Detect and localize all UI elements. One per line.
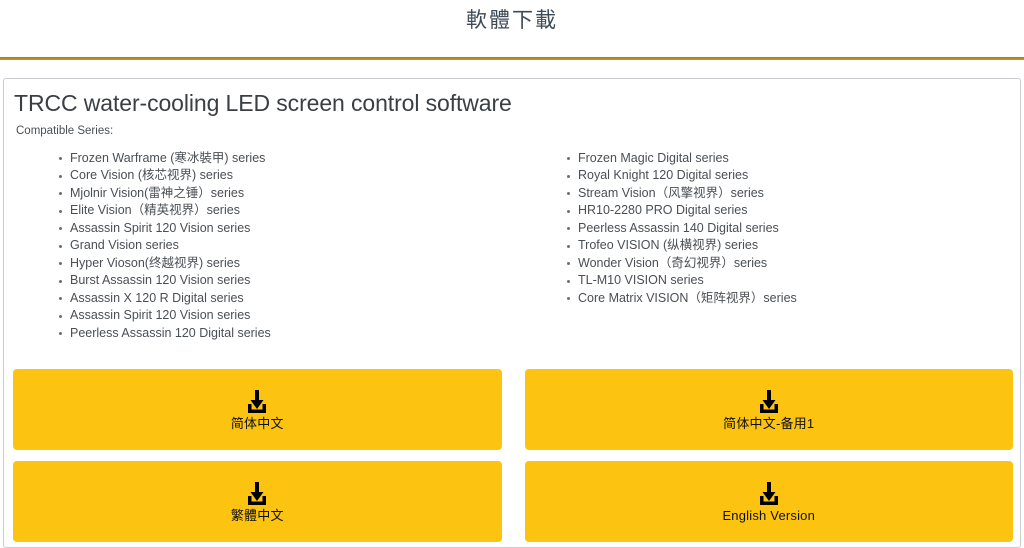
list-item: Wonder Vision（奇幻视界）series bbox=[578, 255, 1010, 273]
series-column-left: Frozen Warframe (寒冰裝甲) series Core Visio… bbox=[52, 150, 512, 343]
download-icon bbox=[756, 481, 782, 507]
list-item: Core Vision (核芯视界) series bbox=[70, 167, 512, 185]
download-button-label: 繁體中文 bbox=[231, 508, 284, 523]
page-root: 軟體下載 TRCC water-cooling LED screen contr… bbox=[0, 0, 1024, 60]
software-heading: TRCC water-cooling LED screen control so… bbox=[4, 79, 1020, 118]
download-button-label: 简体中文-备用1 bbox=[723, 416, 814, 431]
series-column-right: Frozen Magic Digital series Royal Knight… bbox=[560, 150, 1010, 308]
series-list-left: Frozen Warframe (寒冰裝甲) series Core Visio… bbox=[52, 150, 512, 343]
download-button-simplified-chinese-backup1[interactable]: 简体中文-备用1 bbox=[525, 369, 1014, 450]
page-title: 軟體下載 bbox=[0, 0, 1024, 31]
list-item: Peerless Assassin 120 Digital series bbox=[70, 325, 512, 343]
list-item: HR10-2280 PRO Digital series bbox=[578, 202, 1010, 220]
download-button-label: 简体中文 bbox=[231, 416, 284, 431]
download-icon bbox=[244, 481, 270, 507]
list-item: Trofeo VISION (纵横视界) series bbox=[578, 237, 1010, 255]
download-button-simplified-chinese[interactable]: 简体中文 bbox=[13, 369, 502, 450]
download-icon bbox=[756, 389, 782, 415]
list-item: Grand Vision series bbox=[70, 237, 512, 255]
download-button-row-1: 简体中文 简体中文-备用1 bbox=[13, 369, 1013, 450]
list-item: Mjolnir Vision(雷神之锤）series bbox=[70, 185, 512, 203]
list-item: Frozen Warframe (寒冰裝甲) series bbox=[70, 150, 512, 168]
list-item: Royal Knight 120 Digital series bbox=[578, 167, 1010, 185]
list-item: Stream Vision（风擎视界）series bbox=[578, 185, 1010, 203]
list-item: Frozen Magic Digital series bbox=[578, 150, 1010, 168]
list-item: Assassin Spirit 120 Vision series bbox=[70, 307, 512, 325]
download-button-row-2: 繁體中文 English Version bbox=[13, 461, 1013, 542]
compatible-series-label: Compatible Series: bbox=[4, 118, 1020, 139]
title-divider bbox=[0, 57, 1024, 60]
list-item: Peerless Assassin 140 Digital series bbox=[578, 220, 1010, 238]
compatible-series-lists: Frozen Warframe (寒冰裝甲) series Core Visio… bbox=[4, 150, 1020, 358]
list-item: Assassin Spirit 120 Vision series bbox=[70, 220, 512, 238]
software-card: TRCC water-cooling LED screen control so… bbox=[3, 78, 1021, 548]
list-item: Hyper Vioson(终越视界) series bbox=[70, 255, 512, 273]
list-item: Assassin X 120 R Digital series bbox=[70, 290, 512, 308]
download-button-english[interactable]: English Version bbox=[525, 461, 1014, 542]
list-item: Core Matrix VISION（矩阵视界）series bbox=[578, 290, 1010, 308]
download-button-grid: 简体中文 简体中文-备用1 bbox=[13, 369, 1013, 548]
list-item: Burst Assassin 120 Vision series bbox=[70, 272, 512, 290]
list-item: TL-M10 VISION series bbox=[578, 272, 1010, 290]
download-button-label: English Version bbox=[722, 508, 815, 523]
download-icon bbox=[244, 389, 270, 415]
list-item: Elite Vision（精英视界）series bbox=[70, 202, 512, 220]
series-list-right: Frozen Magic Digital series Royal Knight… bbox=[560, 150, 1010, 308]
download-button-traditional-chinese[interactable]: 繁體中文 bbox=[13, 461, 502, 542]
